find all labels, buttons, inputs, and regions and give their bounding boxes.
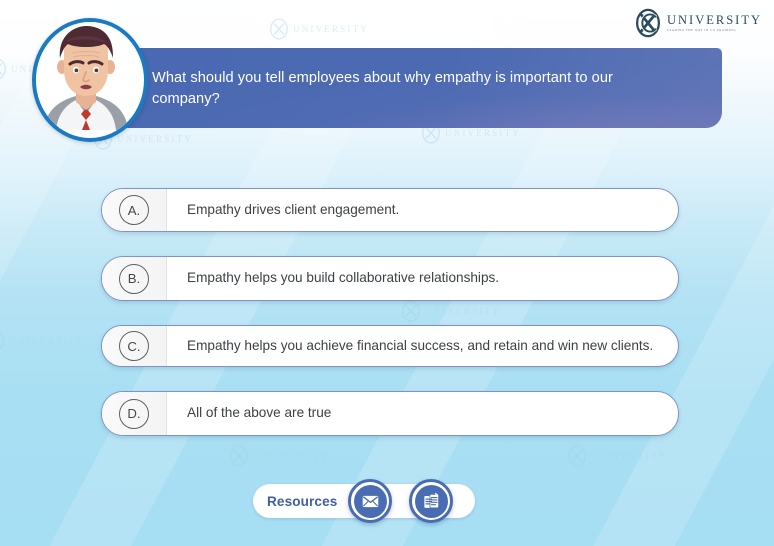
background-watermark: UNIVERSITY [268, 18, 369, 40]
email-resource-button[interactable] [348, 479, 392, 523]
option-text-b: Empathy helps you build collaborative re… [167, 257, 678, 299]
brand-logo: UNIVERSITY LEADING THE WAY IN CX TRAININ… [633, 8, 762, 38]
option-letter-c: C. [119, 331, 149, 361]
option-letter-b: B. [119, 264, 149, 294]
option-text-a: Empathy drives client engagement. [167, 189, 678, 231]
answer-options-list: A. Empathy drives client engagement. B. … [101, 188, 679, 436]
handout-resource-button[interactable] [409, 479, 453, 523]
watermark-label: UNIVERSITY [9, 336, 85, 346]
question-text: What should you tell employees about why… [152, 68, 672, 109]
watermark-label: UNIVERSITY [117, 134, 193, 144]
watermark-label: UNIVERSITY [591, 451, 667, 461]
option-letter-badge-b: B. [102, 257, 167, 299]
background-watermark: UNIVERSITY [0, 330, 85, 352]
question-banner: What should you tell employees about why… [96, 48, 722, 128]
option-text-c: Empathy helps you achieve financial succ… [167, 326, 678, 366]
watermark-label: UNIVERSITY [293, 24, 369, 34]
answer-option-d[interactable]: D. All of the above are true [101, 391, 679, 435]
instructor-avatar [32, 18, 148, 142]
envelope-icon [362, 495, 379, 508]
quiz-slide: UNIVERSITY UNIVERSITY UNIVERSITY UNIVERS… [0, 0, 774, 546]
option-text-d: All of the above are true [167, 392, 678, 434]
option-letter-badge-c: C. [102, 326, 167, 366]
background-watermark: UNIVERSITY [566, 445, 667, 467]
document-notes-icon [422, 492, 441, 511]
answer-option-c[interactable]: C. Empathy helps you achieve financial s… [101, 325, 679, 367]
option-letter-badge-d: D. [102, 392, 167, 434]
option-letter-badge-a: A. [102, 189, 167, 231]
option-letter-d: D. [119, 399, 149, 429]
watermark-label: UNIVERSITY [445, 128, 521, 138]
logo-tagline: LEADING THE WAY IN CX TRAINING [667, 29, 762, 32]
background-watermark: UNIVERSITY [228, 445, 329, 467]
logo-name: UNIVERSITY [667, 14, 762, 27]
resources-label: Resources [267, 494, 337, 509]
answer-option-a[interactable]: A. Empathy drives client engagement. [101, 188, 679, 232]
xc-monogram-icon [633, 8, 663, 38]
answer-option-b[interactable]: B. Empathy helps you build collaborative… [101, 256, 679, 300]
option-letter-a: A. [119, 195, 149, 225]
watermark-label: UNIVERSITY [253, 451, 329, 461]
